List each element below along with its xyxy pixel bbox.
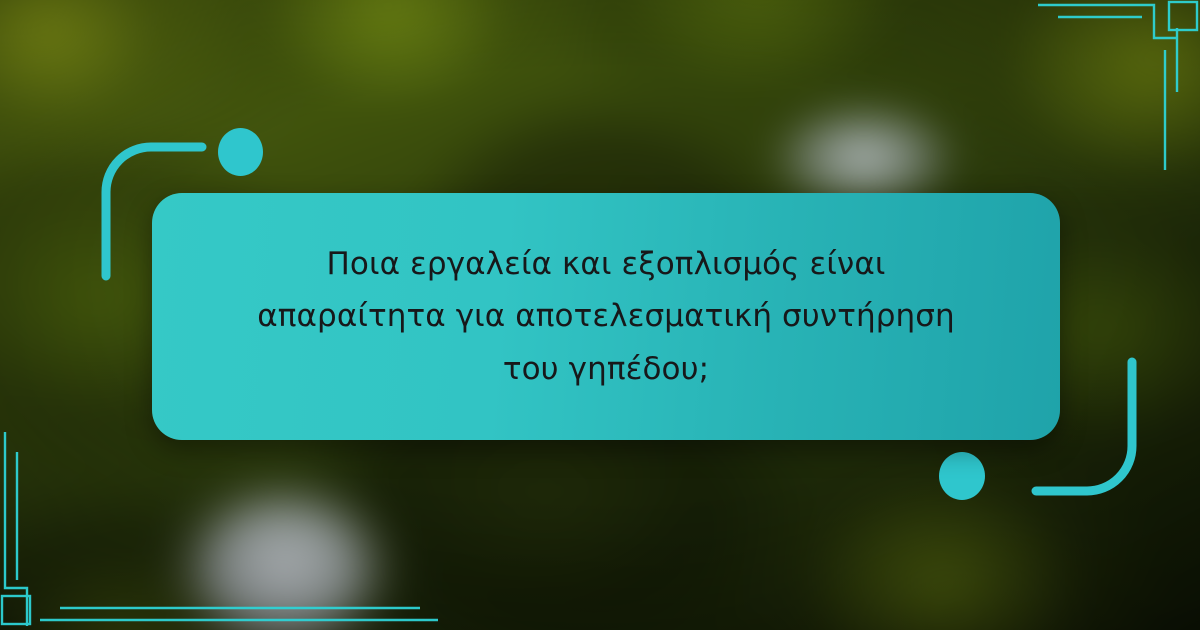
- question-card: Ποια εργαλεία και εξοπλισμός είναι απαρα…: [152, 193, 1060, 440]
- question-text: Ποια εργαλεία και εξοπλισμός είναι απαρα…: [152, 238, 1060, 394]
- circle-accent-bottom-right: [939, 452, 985, 500]
- slide-canvas: Ποια εργαλεία και εξοπλισμός είναι απαρα…: [0, 0, 1200, 630]
- circle-accent-top-left: [218, 128, 263, 176]
